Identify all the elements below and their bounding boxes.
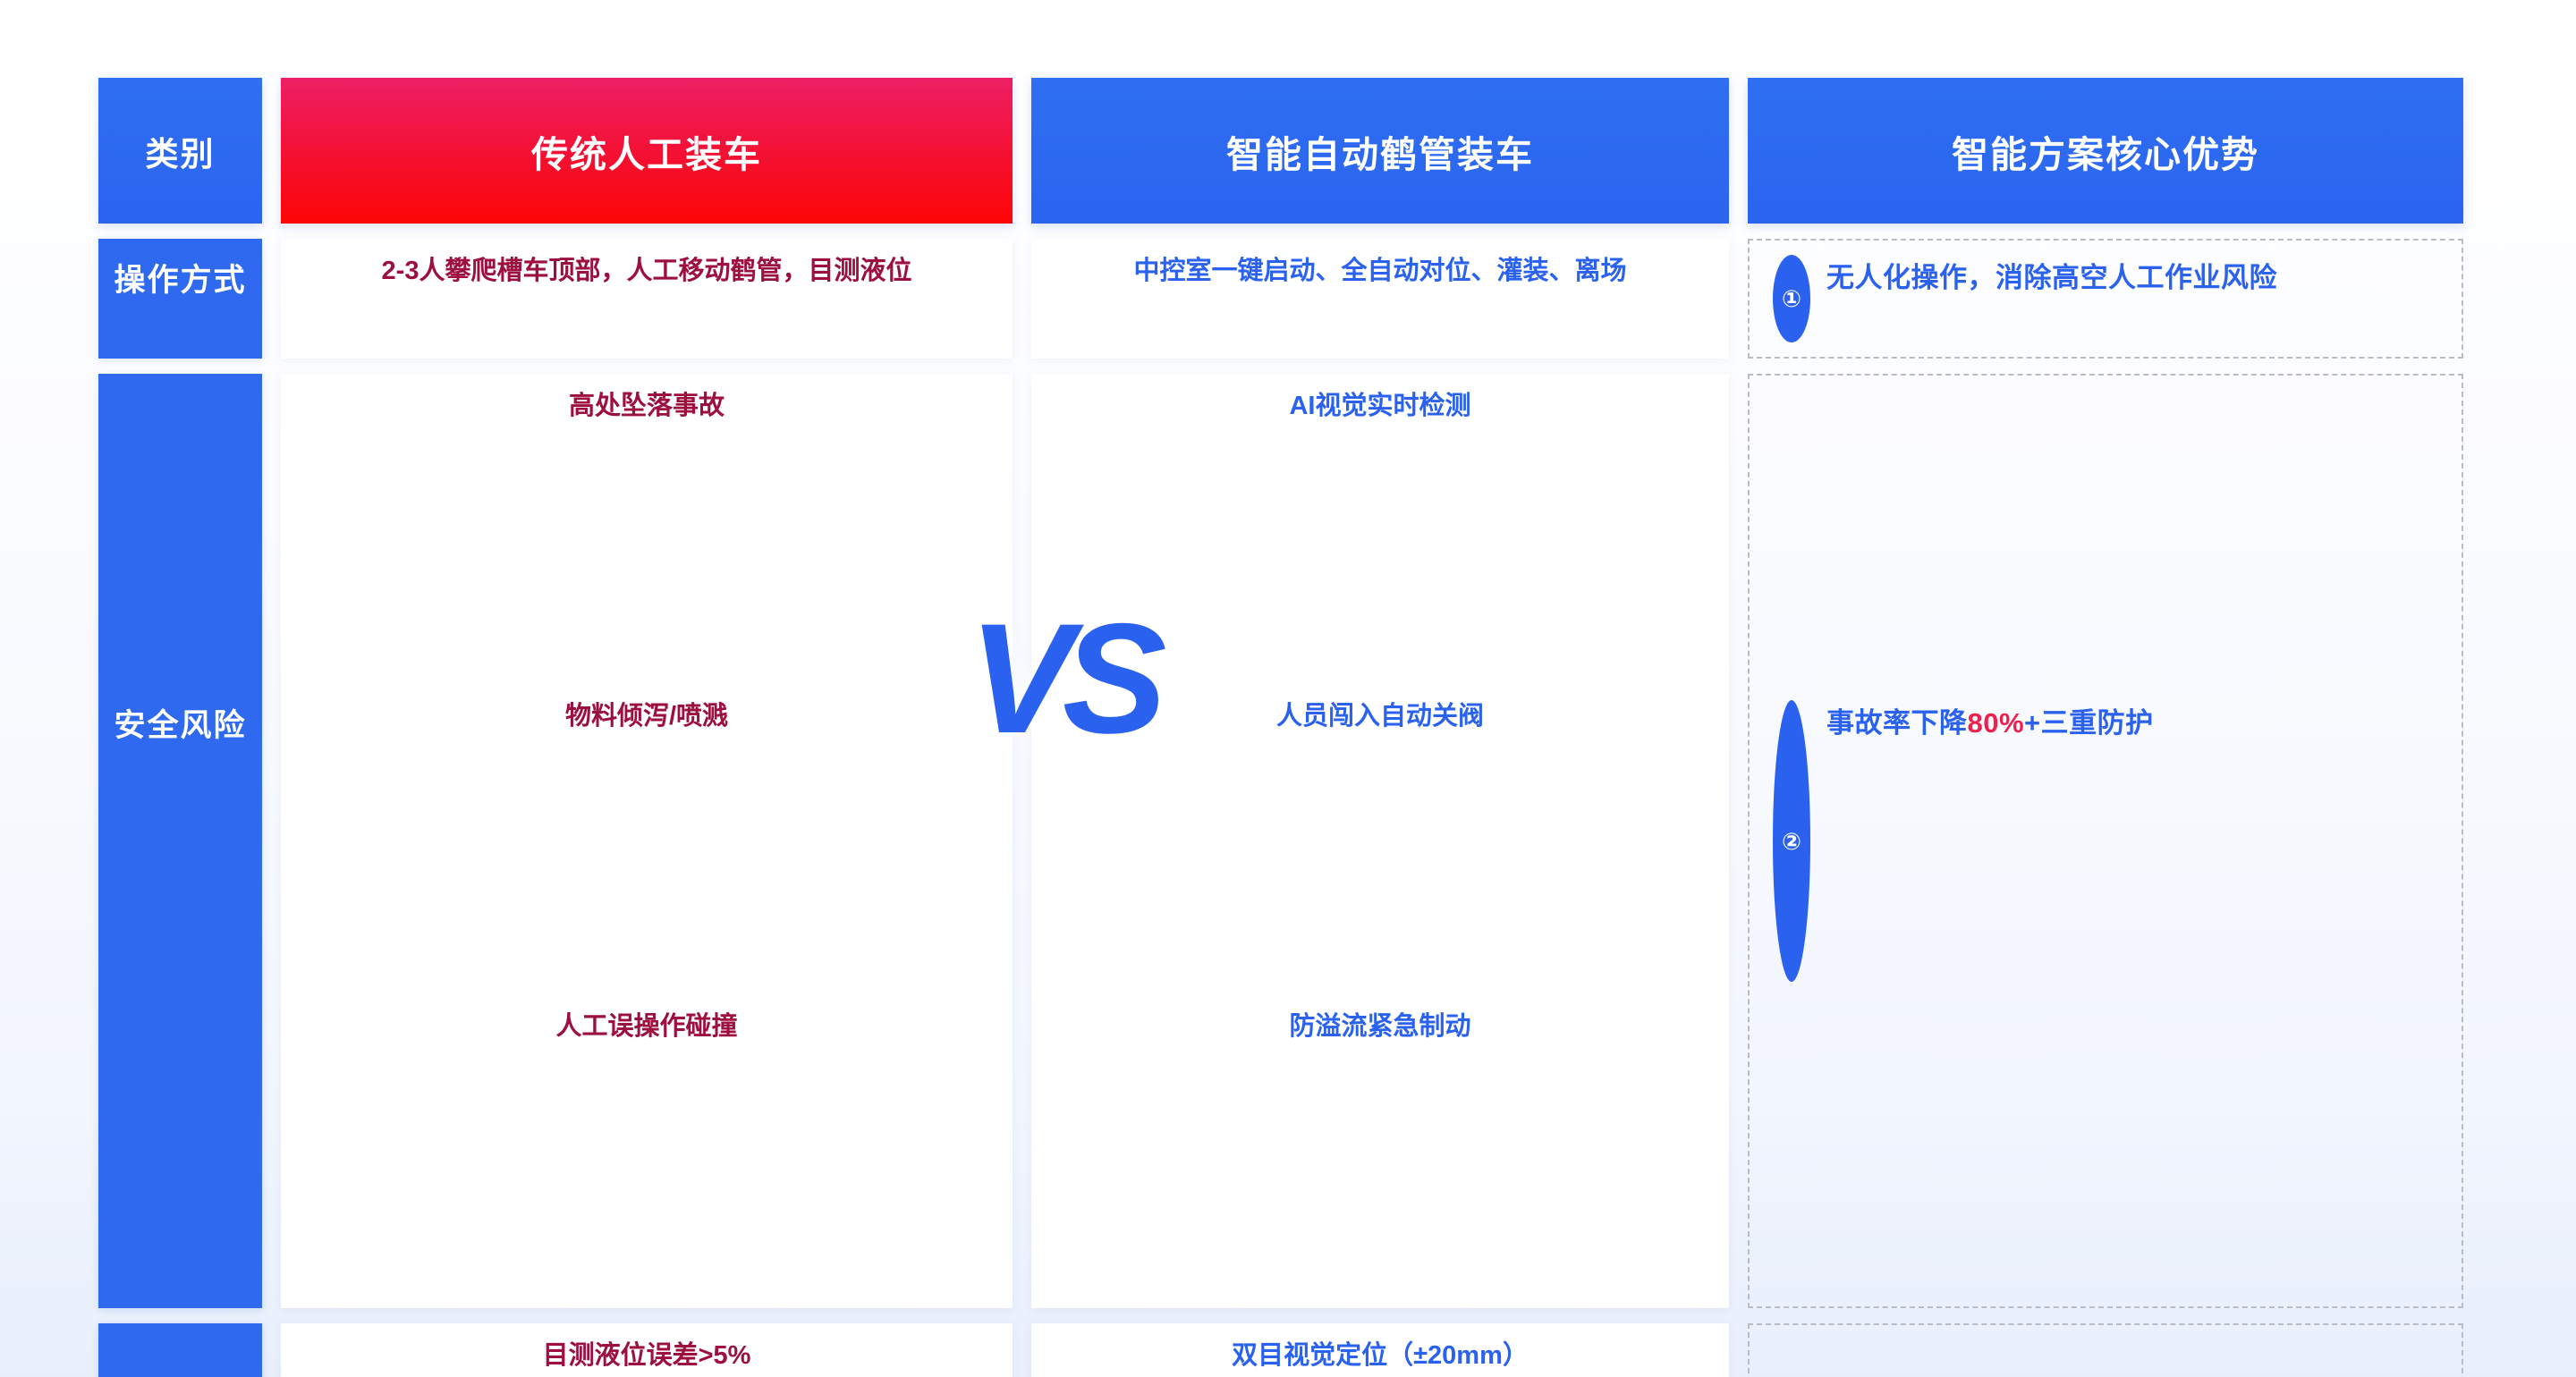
advantage-cell: ①无人化操作，消除高空人工作业风险 bbox=[1748, 239, 2463, 359]
advantage-number-badge: ① bbox=[1773, 255, 1810, 342]
traditional-line: 目测液位误差>5% bbox=[543, 1339, 751, 1377]
header-category: 类别 bbox=[98, 78, 262, 224]
category-cell: 操作方式 bbox=[98, 239, 262, 359]
advantage-text: 事故率下降80%+三重防护 bbox=[1826, 700, 2154, 982]
category-cell: 安全风险 bbox=[98, 374, 262, 1308]
smart-line: 中控室一键启动、全自动对位、灌装、离场 bbox=[1133, 255, 1626, 342]
advantage-cell: ④物料损耗降低95%，杜绝超装/少装 bbox=[1748, 1323, 2463, 1377]
advantage-text-prefix: 事故率下降 bbox=[1826, 707, 1968, 739]
header-smart-label: 智能自动鹤管装车 bbox=[1226, 124, 1534, 178]
smart-line: 人员闯入自动关阀 bbox=[1276, 700, 1484, 982]
traditional-cell: 目测液位误差>5%鹤管对位偏移易洒漏 bbox=[281, 1323, 1013, 1377]
header-category-label: 类别 bbox=[146, 127, 216, 175]
traditional-line: 物料倾泻/喷溅 bbox=[565, 700, 728, 982]
smart-line: AI视觉实时检测 bbox=[1289, 390, 1470, 672]
smart-cell: AI视觉实时检测人员闯入自动关阀防溢流紧急制动 bbox=[1031, 374, 1729, 1308]
traditional-line: 2-3人攀爬槽车顶部，人工移动鹤管，目测液位 bbox=[382, 255, 912, 342]
category-label: 操作方式 bbox=[114, 255, 246, 342]
advantage-number-badge: ② bbox=[1773, 700, 1810, 982]
advantage-text: 无人化操作，消除高空人工作业风险 bbox=[1826, 255, 2277, 342]
advantage-text-prefix: 无人化操作，消除高空人工作业风险 bbox=[1826, 262, 2277, 293]
header-advantage-label: 智能方案核心优势 bbox=[1952, 124, 2259, 178]
smart-line: 双目视觉定位（±20mm） bbox=[1232, 1339, 1529, 1377]
header-traditional: 传统人工装车 bbox=[281, 78, 1013, 224]
traditional-cell: 高处坠落事故物料倾泻/喷溅人工误操作碰撞 bbox=[281, 374, 1013, 1308]
header-advantage: 智能方案核心优势 bbox=[1748, 78, 2463, 224]
comparison-infographic: 类别 传统人工装车 智能自动鹤管装车 智能方案核心优势 操作方式2-3人攀爬槽车… bbox=[0, 0, 2576, 1377]
advantage-text-suffix: +三重防护 bbox=[2024, 707, 2154, 739]
advantage-cell: ②事故率下降80%+三重防护 bbox=[1748, 374, 2463, 1308]
category-cell: 精度控制 bbox=[98, 1323, 262, 1377]
traditional-line: 人工误操作碰撞 bbox=[555, 1010, 737, 1292]
header-traditional-label: 传统人工装车 bbox=[531, 124, 762, 178]
smart-cell: 双目视觉定位（±20mm）流量计自动定量关阀（精度0.2%） bbox=[1031, 1323, 1729, 1377]
advantage-text-highlight: 80% bbox=[1968, 707, 2025, 739]
smart-line: 防溢流紧急制动 bbox=[1289, 1010, 1470, 1292]
traditional-cell: 2-3人攀爬槽车顶部，人工移动鹤管，目测液位 bbox=[281, 239, 1013, 359]
traditional-line: 高处坠落事故 bbox=[569, 390, 724, 672]
comparison-table: 类别 传统人工装车 智能自动鹤管装车 智能方案核心优势 操作方式2-3人攀爬槽车… bbox=[98, 78, 2478, 1377]
smart-cell: 中控室一键启动、全自动对位、灌装、离场 bbox=[1031, 239, 1729, 359]
header-smart: 智能自动鹤管装车 bbox=[1031, 78, 1729, 224]
category-label: 安全风险 bbox=[114, 700, 246, 982]
